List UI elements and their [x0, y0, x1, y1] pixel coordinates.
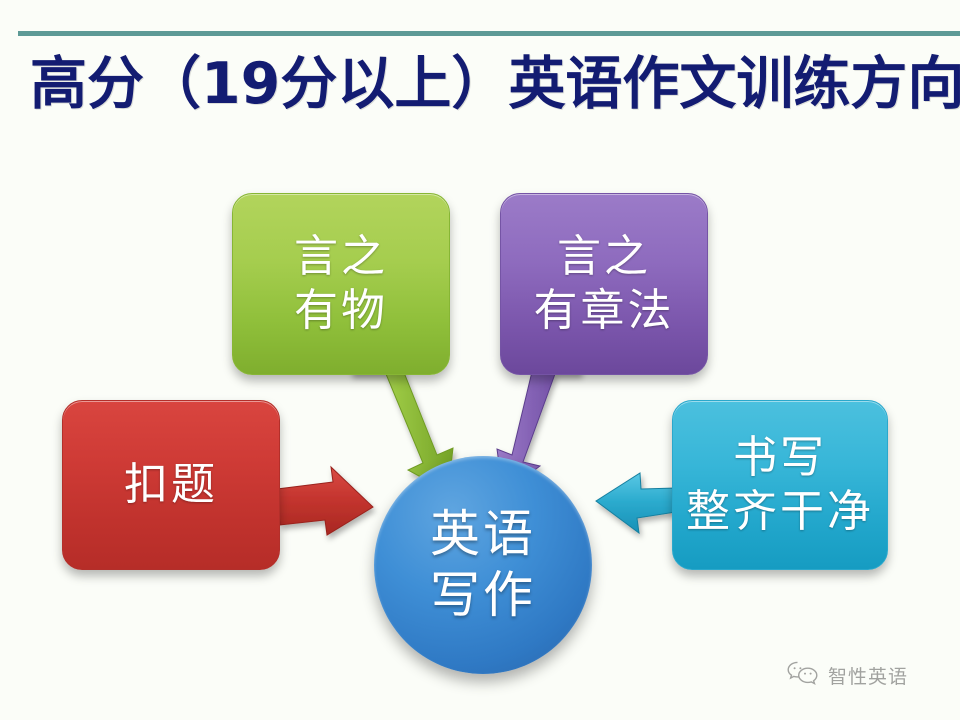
- node-green[interactable]: 言之 有物: [232, 193, 450, 375]
- node-red-line-1: 扣题: [124, 458, 218, 512]
- page-title: 高分（19分以上）英语作文训练方向: [30, 44, 940, 124]
- node-cyan-line-2: 整齐干净: [686, 485, 874, 539]
- watermark: 智性英语: [786, 660, 908, 691]
- title-divider-rule: [18, 31, 960, 36]
- node-cyan-line-1: 书写: [733, 431, 827, 485]
- node-purple-line-1: 言之: [557, 230, 651, 284]
- center-node-circle[interactable]: 英语 写作: [374, 456, 592, 674]
- node-red[interactable]: 扣题: [62, 400, 280, 570]
- arrow-red-to-center: [277, 467, 373, 535]
- watermark-text: 智性英语: [828, 662, 908, 689]
- node-purple[interactable]: 言之 有章法: [500, 193, 708, 375]
- center-node-line-1: 英语: [430, 504, 536, 565]
- node-purple-line-2: 有章法: [534, 284, 675, 338]
- node-green-line-1: 言之: [294, 230, 388, 284]
- center-node-line-2: 写作: [430, 565, 536, 626]
- slide-canvas: 高分（19分以上）英语作文训练方向: [0, 0, 960, 720]
- wechat-bubbles-icon: [786, 660, 820, 691]
- arrow-cyan-to-center: [596, 473, 676, 533]
- node-green-line-2: 有物: [294, 284, 388, 338]
- node-cyan[interactable]: 书写 整齐干净: [672, 400, 888, 570]
